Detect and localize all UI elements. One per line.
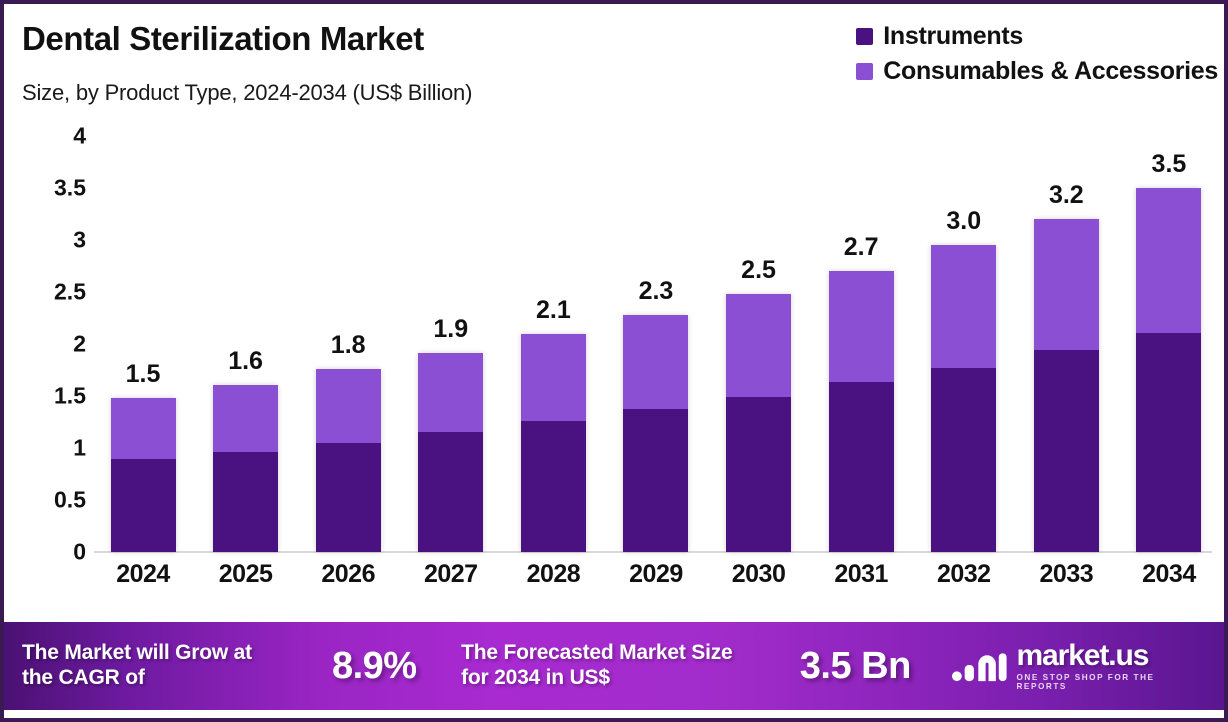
- stacked-bar[interactable]: 2.1: [521, 334, 586, 552]
- bar-group[interactable]: 3.0: [921, 136, 1007, 552]
- market-us-logo[interactable]: market.us ONE STOP SHOP FOR THE REPORTS: [951, 641, 1210, 690]
- x-axis-tick-label: 2026: [305, 560, 391, 589]
- stacked-bar[interactable]: 2.3: [623, 315, 688, 552]
- bar-value-label: 1.5: [126, 360, 161, 389]
- x-axis-tick-label: 2029: [613, 560, 699, 589]
- legend-label: Consumables & Accessories: [883, 57, 1218, 86]
- legend-label: Instruments: [883, 22, 1023, 51]
- x-axis-tick-label: 2025: [203, 560, 289, 589]
- bar-group[interactable]: 2.3: [613, 136, 699, 552]
- y-axis-tick-label: 1.5: [54, 383, 86, 410]
- stacked-bar[interactable]: 3.2: [1034, 219, 1099, 552]
- bar-segment-consumables[interactable]: [623, 315, 688, 409]
- y-axis-tick-label: 3: [73, 227, 86, 254]
- y-axis-tick-label: 2: [73, 331, 86, 358]
- x-axis-tick-label: 2032: [921, 560, 1007, 589]
- y-axis-tick-label: 0.5: [54, 487, 86, 514]
- bar-segment-instruments[interactable]: [213, 452, 278, 552]
- bar-group[interactable]: 2.5: [716, 136, 802, 552]
- bar-group[interactable]: 1.8: [305, 136, 391, 552]
- stacked-bar[interactable]: 3.5: [1136, 188, 1201, 552]
- logo-text: market.us ONE STOP SHOP FOR THE REPORTS: [1016, 641, 1204, 690]
- logo-wordmark: market.us: [1016, 641, 1204, 671]
- bar-group[interactable]: 2.1: [510, 136, 596, 552]
- forecast-label: The Forecasted Market Size for 2034 in U…: [461, 641, 760, 691]
- legend-swatch-icon: [856, 63, 873, 80]
- chart-legend: Instruments Consumables & Accessories: [856, 22, 1218, 86]
- y-axis-tick-label: 1: [73, 435, 86, 462]
- bar-value-label: 3.2: [1049, 181, 1084, 210]
- bar-segment-instruments[interactable]: [111, 459, 176, 552]
- bar-segment-instruments[interactable]: [623, 409, 688, 553]
- forecast-value: 3.5 Bn: [760, 645, 951, 688]
- bar-segment-instruments[interactable]: [1034, 350, 1099, 552]
- stacked-bar[interactable]: 1.8: [316, 369, 381, 552]
- x-axis-tick-label: 2027: [408, 560, 494, 589]
- bar-segment-instruments[interactable]: [418, 432, 483, 552]
- stacked-bar[interactable]: 2.7: [829, 271, 894, 552]
- bar-value-label: 2.1: [536, 296, 571, 325]
- stacked-bar[interactable]: 1.5: [111, 398, 176, 552]
- bar-segment-consumables[interactable]: [726, 294, 791, 397]
- stacked-bar[interactable]: 2.5: [726, 294, 791, 552]
- bar-segment-consumables[interactable]: [1136, 188, 1201, 333]
- infographic-page: Dental Sterilization Market Size, by Pro…: [0, 0, 1228, 722]
- bar-segment-instruments[interactable]: [316, 443, 381, 552]
- x-axis-tick-label: 2034: [1126, 560, 1212, 589]
- bar-segment-instruments[interactable]: [1136, 333, 1201, 552]
- y-axis-tick-label: 4: [73, 123, 86, 150]
- bar-segment-consumables[interactable]: [1034, 219, 1099, 350]
- x-axis-tick-label: 2031: [818, 560, 904, 589]
- bar-group[interactable]: 3.2: [1023, 136, 1109, 552]
- bar-segment-consumables[interactable]: [931, 245, 996, 368]
- stacked-bar[interactable]: 1.6: [213, 385, 278, 552]
- x-axis-tick-label: 2024: [100, 560, 186, 589]
- bar-group[interactable]: 1.5: [100, 136, 186, 552]
- logo-tagline: ONE STOP SHOP FOR THE REPORTS: [1016, 674, 1204, 690]
- bar-segment-consumables[interactable]: [829, 271, 894, 382]
- bar-segment-consumables[interactable]: [521, 334, 586, 421]
- bar-group[interactable]: 3.5: [1126, 136, 1212, 552]
- stacked-bar[interactable]: 3.0: [931, 245, 996, 552]
- x-axis-tick-label: 2033: [1023, 560, 1109, 589]
- bar-segment-instruments[interactable]: [829, 382, 894, 552]
- bar-value-label: 1.8: [331, 331, 366, 360]
- legend-swatch-icon: [856, 28, 873, 45]
- summary-banner: The Market will Grow at the CAGR of 8.9%…: [4, 622, 1224, 710]
- bar-value-label: 1.9: [433, 315, 468, 344]
- cagr-label: The Market will Grow at the CAGR of: [22, 641, 287, 691]
- bar-value-label: 2.3: [639, 277, 674, 306]
- stacked-bar[interactable]: 1.9: [418, 353, 483, 552]
- bar-value-label: 2.5: [741, 256, 776, 285]
- y-axis-tick-label: 3.5: [54, 175, 86, 202]
- y-axis-tick-label: 0: [73, 539, 86, 566]
- bar-value-label: 1.6: [228, 347, 263, 376]
- x-axis-tick-label: 2030: [716, 560, 802, 589]
- bar-group[interactable]: 1.6: [203, 136, 289, 552]
- y-axis-tick-label: 2.5: [54, 279, 86, 306]
- bar-chart-logo-icon: [951, 649, 1008, 683]
- x-axis-labels: 2024202520262027202820292030203120322033…: [100, 560, 1212, 589]
- legend-item-consumables[interactable]: Consumables & Accessories: [856, 57, 1218, 86]
- page-subtitle: Size, by Product Type, 2024-2034 (US$ Bi…: [22, 80, 472, 106]
- bar-group[interactable]: 1.9: [408, 136, 494, 552]
- bar-segment-consumables[interactable]: [111, 398, 176, 459]
- page-title: Dental Sterilization Market: [22, 20, 424, 58]
- bar-series-container: 1.51.61.81.92.12.32.52.73.03.23.5: [100, 136, 1212, 552]
- legend-item-instruments[interactable]: Instruments: [856, 22, 1023, 51]
- bar-segment-consumables[interactable]: [213, 385, 278, 453]
- bar-segment-instruments[interactable]: [726, 397, 791, 552]
- bar-value-label: 3.0: [946, 207, 981, 236]
- bar-value-label: 3.5: [1152, 150, 1187, 179]
- bar-segment-instruments[interactable]: [521, 421, 586, 552]
- cagr-value: 8.9%: [287, 645, 461, 688]
- plot-area: 00.511.522.533.54 1.51.61.81.92.12.32.52…: [100, 136, 1212, 552]
- x-axis-tick-label: 2028: [510, 560, 596, 589]
- bar-segment-consumables[interactable]: [418, 353, 483, 432]
- bar-value-label: 2.7: [844, 233, 879, 262]
- bar-segment-instruments[interactable]: [931, 368, 996, 552]
- bar-group[interactable]: 2.7: [818, 136, 904, 552]
- bar-segment-consumables[interactable]: [316, 369, 381, 443]
